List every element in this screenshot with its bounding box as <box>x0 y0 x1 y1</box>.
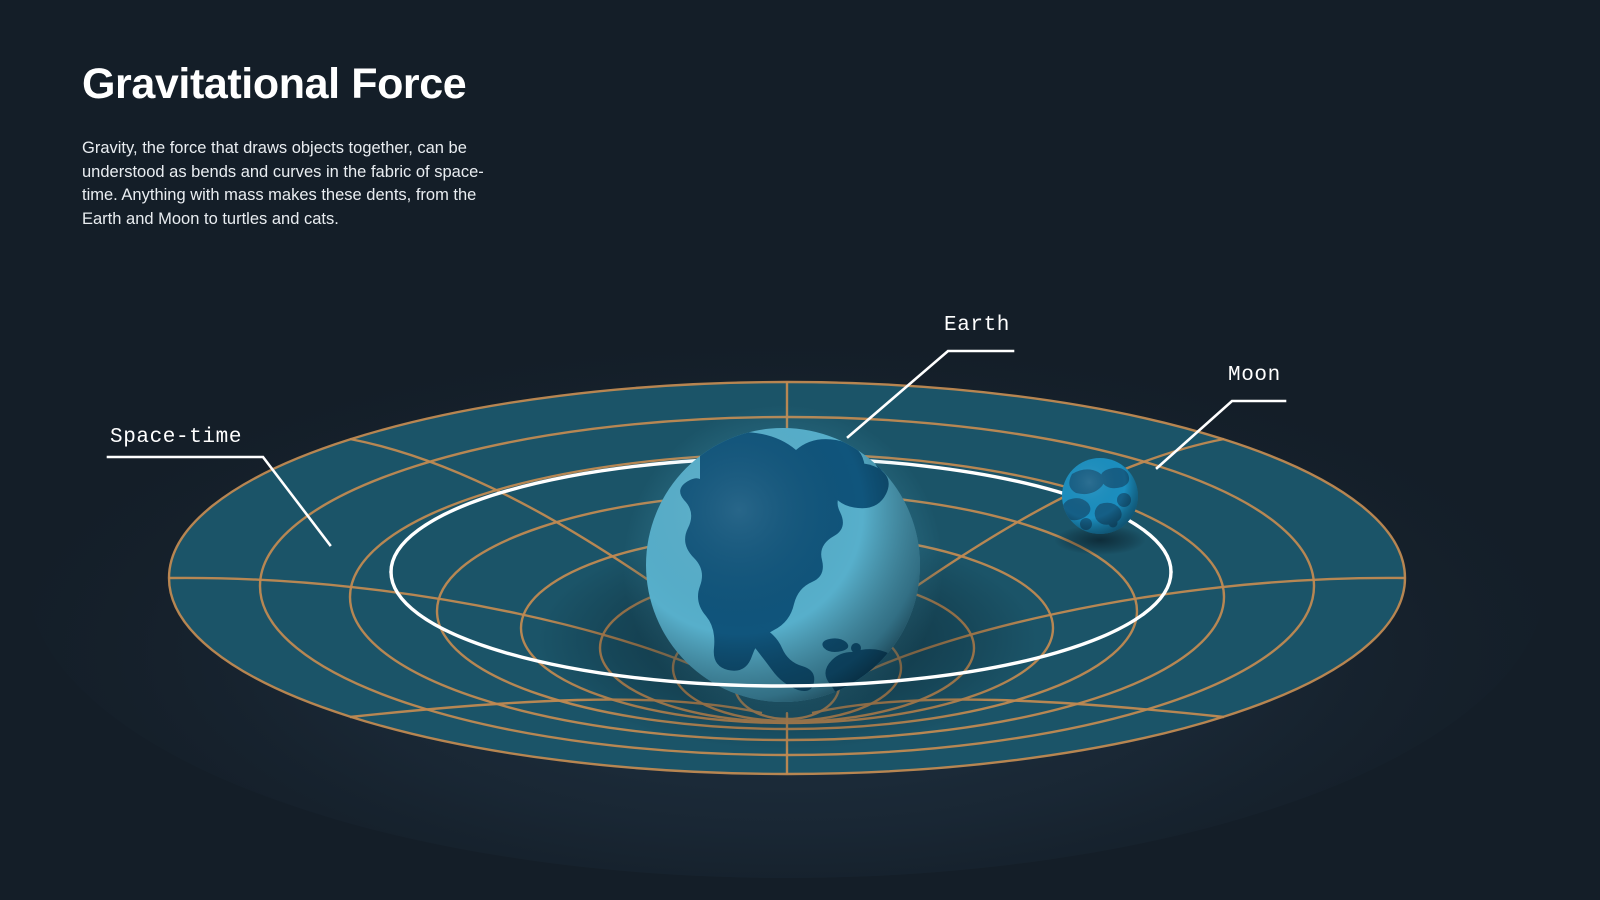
page-title: Gravitational Force <box>82 62 502 107</box>
infographic-canvas: Gravitational Force Gravity, the force t… <box>0 0 1600 900</box>
intro-text-block: Gravitational Force Gravity, the force t… <box>82 62 502 232</box>
label-space-time: Space-time <box>110 426 242 449</box>
label-moon: Moon <box>1228 364 1281 387</box>
page-description: Gravity, the force that draws objects to… <box>82 137 502 231</box>
label-earth: Earth <box>944 314 1010 337</box>
moon-shading <box>1062 458 1138 534</box>
moon <box>1062 458 1138 534</box>
earth-shading <box>646 428 920 702</box>
